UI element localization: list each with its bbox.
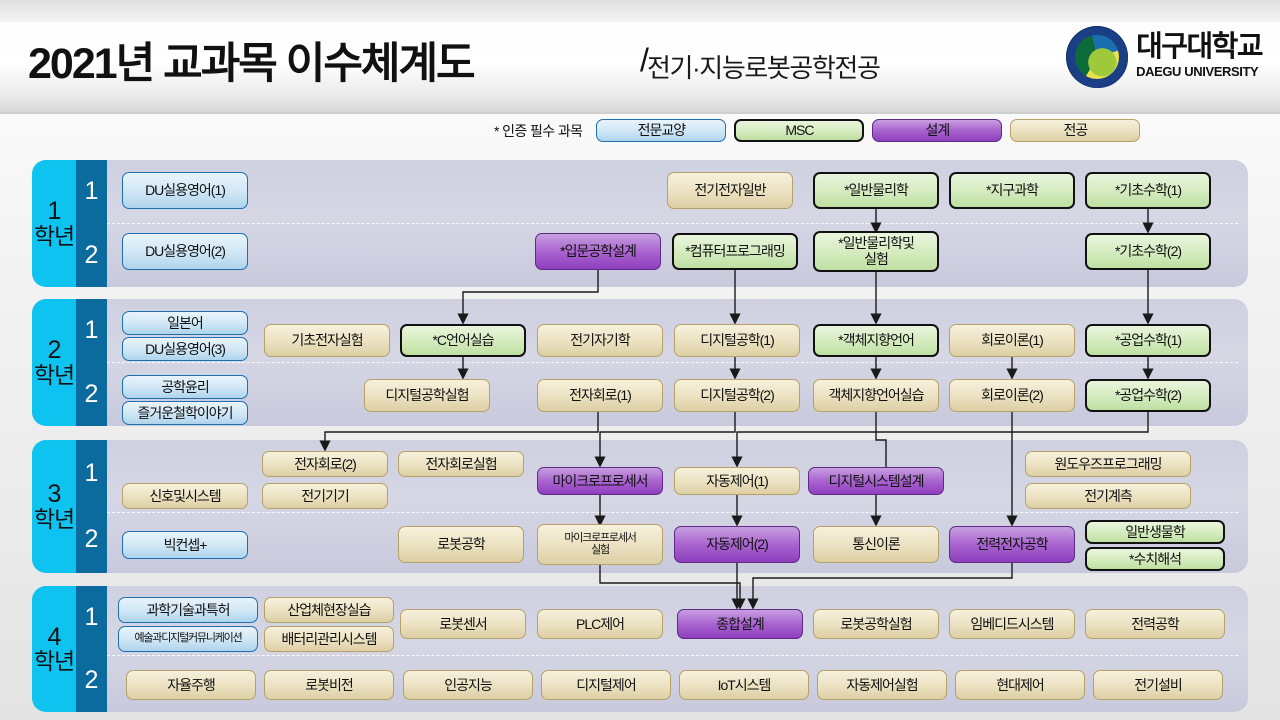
semester-column-1: 1 2 (76, 160, 107, 287)
course-label: 회로이론(1) (981, 333, 1043, 348)
course-label: 로봇공학 (437, 537, 485, 552)
course-label: *수치해석 (1129, 552, 1181, 567)
course-box[interactable]: 신호및시스템 (122, 483, 248, 509)
course-box[interactable]: *객체지향언어 (813, 324, 939, 357)
course-box[interactable]: 예술과디지털커뮤니케이션 (118, 626, 258, 652)
course-label: 디지털시스템설계 (828, 474, 923, 489)
course-box[interactable]: 디지털공학(1) (674, 324, 800, 357)
course-label: 원도우즈프로그래밍 (1055, 457, 1162, 472)
course-box[interactable]: 빅컨셉+ (122, 531, 248, 559)
course-box[interactable]: DU실용영어(1) (122, 172, 248, 209)
course-box[interactable]: 마이크로프로세서 실험 (537, 524, 663, 565)
year-number: 2 (48, 338, 61, 364)
university-logo: 대구대학교 DAEGU UNIVERSITY (1066, 26, 1262, 88)
semester-1: 1 (76, 160, 107, 224)
year-number: 1 (48, 199, 61, 225)
course-box[interactable]: 디지털공학(2) (674, 379, 800, 412)
course-label: 전자회로실험 (425, 457, 496, 472)
course-box[interactable]: 전기기기 (262, 483, 388, 509)
course-box[interactable]: *지구과학 (949, 172, 1075, 209)
course-label: *기초수학(1) (1115, 183, 1181, 198)
course-label: 자동제어(1) (706, 474, 768, 489)
page-header: 2021년 교과목 이수체계도 / 전기·지능로봇공학전공 대구대학교 DAEG… (0, 0, 1280, 114)
course-box[interactable]: *입문공학설계 (535, 233, 661, 270)
page-title: 2021년 교과목 이수체계도 (28, 29, 474, 91)
course-label: 전자회로(2) (294, 457, 356, 472)
course-box[interactable]: 전자회로(2) (262, 451, 388, 477)
semester-divider (107, 512, 1238, 513)
course-box[interactable]: 전자회로(1) (537, 379, 663, 412)
year-number: 4 (48, 625, 61, 651)
course-box[interactable]: 공학윤리 (122, 375, 248, 399)
course-box[interactable]: 로봇센서 (400, 609, 526, 639)
course-box[interactable]: 디지털제어 (541, 670, 671, 700)
course-box[interactable]: *일반물리학 (813, 172, 939, 209)
course-label: 전자회로(1) (569, 388, 631, 403)
course-box[interactable]: 자동제어(2) (674, 526, 800, 563)
course-label: 자동제어실험 (846, 678, 917, 693)
course-label: *지구과학 (986, 183, 1038, 198)
course-label: 자동제어(2) (706, 537, 768, 552)
legend-item-msc: MSC (734, 119, 864, 142)
course-box[interactable]: 객체지향언어실습 (813, 379, 939, 412)
course-label: DU실용영어(2) (145, 244, 225, 259)
course-box[interactable]: 로봇비전 (264, 670, 394, 700)
curriculum-flowchart-page: 2021년 교과목 이수체계도 / 전기·지능로봇공학전공 대구대학교 DAEG… (0, 0, 1280, 720)
course-label: 객체지향언어실습 (828, 388, 923, 403)
course-box[interactable]: *공업수학(2) (1085, 379, 1211, 412)
course-box[interactable]: 일반생물학 (1085, 520, 1225, 544)
course-box[interactable]: DU실용영어(2) (122, 233, 248, 270)
course-box[interactable]: 통신이론 (813, 526, 939, 563)
course-label: 예술과디지털커뮤니케이션 (134, 633, 241, 645)
course-box[interactable]: 전기자기학 (537, 324, 663, 357)
year-label-4: 4 학년 (32, 586, 76, 712)
semester-column-3: 1 2 (76, 440, 107, 573)
course-label: *일반물리학및 실험 (838, 236, 914, 266)
legend-note: * 인증 필수 과목 (494, 121, 582, 141)
course-label: *컴퓨터프로그래밍 (685, 244, 785, 259)
year-unit: 학년 (34, 364, 74, 387)
course-label: 통신이론 (852, 537, 900, 552)
course-box[interactable]: 종합설계 (677, 609, 803, 639)
course-label: 전기기기 (301, 489, 349, 504)
course-box[interactable]: 회로이론(1) (949, 324, 1075, 357)
course-label: 종합설계 (716, 617, 764, 632)
course-label: DU실용영어(1) (145, 183, 225, 198)
course-box[interactable]: 전기계측 (1025, 483, 1191, 509)
course-label: 전기설비 (1134, 678, 1182, 693)
course-label: 신호및시스템 (149, 489, 220, 504)
semester-2: 2 (76, 363, 107, 427)
year-label-2: 2 학년 (32, 299, 76, 426)
course-label: *공업수학(2) (1115, 388, 1181, 403)
course-label: 산업체현장실습 (287, 603, 370, 618)
course-box[interactable]: 전력전자공학 (949, 526, 1075, 563)
course-label: 마이크로프로세서 실험 (564, 533, 635, 557)
course-label: 전력공학 (1131, 617, 1179, 632)
course-label: 임베디드시스템 (970, 617, 1053, 632)
course-box[interactable]: 로봇공학실험 (813, 609, 939, 639)
course-box[interactable]: *기초수학(2) (1085, 233, 1211, 270)
course-box[interactable]: 산업체현장실습 (264, 597, 394, 623)
year-number: 3 (48, 482, 61, 508)
year-label-3: 3 학년 (32, 440, 76, 573)
semester-2: 2 (76, 224, 107, 288)
university-name-ko: 대구대학교 (1136, 33, 1262, 62)
year-label-1: 1 학년 (32, 160, 76, 287)
course-box[interactable]: 자동제어실험 (817, 670, 947, 700)
course-label: 전력전자공학 (976, 537, 1047, 552)
course-label: *기초수학(2) (1115, 244, 1181, 259)
course-label: 마이크로프로세서 (552, 474, 647, 489)
legend: * 인증 필수 과목 전문교양 MSC 설계 전공 (494, 119, 1140, 142)
course-label: *입문공학설계 (560, 244, 636, 259)
course-box[interactable]: 전력공학 (1085, 609, 1225, 639)
course-label: 자율주행 (167, 678, 215, 693)
course-label: 전기자기학 (570, 333, 629, 348)
semester-divider (107, 655, 1238, 656)
semester-divider (107, 223, 1238, 224)
course-label: 현대제어 (996, 678, 1044, 693)
course-label: 즐거운철학이야기 (137, 406, 232, 421)
course-label: 일본어 (167, 316, 203, 331)
course-box[interactable]: 배터리관리시스템 (264, 626, 394, 652)
year-unit: 학년 (34, 650, 74, 673)
course-label: 전기전자일반 (694, 183, 765, 198)
legend-item-design: 설계 (872, 119, 1002, 142)
semester-column-4: 1 2 (76, 586, 107, 712)
course-label: PLC제어 (576, 617, 624, 632)
course-label: 과학기술과특허 (146, 603, 229, 618)
semester-1: 1 (76, 586, 107, 649)
course-box[interactable]: PLC제어 (537, 609, 663, 639)
course-box[interactable]: 자동제어(1) (674, 467, 800, 495)
course-label: 공학윤리 (161, 380, 209, 395)
course-label: *일반물리학 (844, 183, 908, 198)
course-label: 로봇공학실험 (840, 617, 911, 632)
course-box[interactable]: 현대제어 (955, 670, 1085, 700)
course-label: 배터리관리시스템 (281, 632, 376, 647)
university-name-en: DAEGU UNIVERSITY (1136, 62, 1262, 82)
course-box[interactable]: 로봇공학 (398, 526, 524, 563)
legend-item-liberal: 전문교양 (596, 119, 726, 142)
page-subtitle: 전기·지능로봇공학전공 (647, 48, 879, 85)
course-label: 로봇센서 (439, 617, 487, 632)
year-unit: 학년 (34, 225, 74, 248)
course-box[interactable]: *기초수학(1) (1085, 172, 1211, 209)
course-box[interactable]: 일본어 (122, 311, 248, 335)
course-label: 일반생물학 (1125, 525, 1184, 540)
year-unit: 학년 (34, 508, 74, 531)
course-label: 디지털제어 (576, 678, 635, 693)
semester-2: 2 (76, 649, 107, 712)
semester-1: 1 (76, 440, 107, 507)
course-label: 디지털공학실험 (385, 388, 468, 403)
course-label: 로봇비전 (305, 678, 353, 693)
course-box[interactable]: *C언어실습 (400, 324, 526, 357)
course-box[interactable]: 디지털공학실험 (364, 379, 490, 412)
course-label: 디지털공학(2) (700, 388, 774, 403)
course-label: 기초전자실험 (291, 333, 362, 348)
semester-2: 2 (76, 507, 107, 574)
course-box[interactable]: 인공지능 (403, 670, 533, 700)
course-label: 회로이론(2) (981, 388, 1043, 403)
course-label: 전기계측 (1084, 489, 1132, 504)
course-box[interactable]: 즐거운철학이야기 (122, 401, 248, 425)
course-box[interactable]: *공업수학(1) (1085, 324, 1211, 357)
course-box[interactable]: 전기전자일반 (667, 172, 793, 209)
course-box[interactable]: 전자회로실험 (398, 451, 524, 477)
course-box[interactable]: 회로이론(2) (949, 379, 1075, 412)
course-box[interactable]: 과학기술과특허 (118, 597, 258, 623)
course-label: DU실용영어(3) (145, 342, 225, 357)
course-box[interactable]: DU실용영어(3) (122, 337, 248, 361)
course-label: IoT시스템 (718, 678, 771, 693)
semester-divider (107, 362, 1238, 363)
course-box[interactable]: 기초전자실험 (264, 324, 390, 357)
course-label: *객체지향언어 (838, 333, 914, 348)
course-box[interactable]: 자율주행 (126, 670, 256, 700)
legend-item-major: 전공 (1010, 119, 1140, 142)
course-label: *공업수학(1) (1115, 333, 1181, 348)
semester-1: 1 (76, 299, 107, 363)
course-box[interactable]: *일반물리학및 실험 (813, 231, 939, 272)
course-box[interactable]: *컴퓨터프로그래밍 (672, 233, 798, 270)
course-box[interactable]: 전기설비 (1093, 670, 1223, 700)
university-emblem-icon (1066, 26, 1128, 88)
course-box[interactable]: 디지털시스템설계 (808, 467, 944, 495)
course-label: 디지털공학(1) (700, 333, 774, 348)
semester-column-2: 1 2 (76, 299, 107, 426)
course-box[interactable]: *수치해석 (1085, 547, 1225, 571)
course-box[interactable]: 원도우즈프로그래밍 (1025, 451, 1191, 477)
course-label: *C언어실습 (432, 333, 493, 348)
course-box[interactable]: 임베디드시스템 (949, 609, 1075, 639)
course-box[interactable]: IoT시스템 (679, 670, 809, 700)
course-box[interactable]: 마이크로프로세서 (537, 467, 663, 495)
course-label: 인공지능 (444, 678, 492, 693)
course-label: 빅컨셉+ (164, 538, 207, 553)
